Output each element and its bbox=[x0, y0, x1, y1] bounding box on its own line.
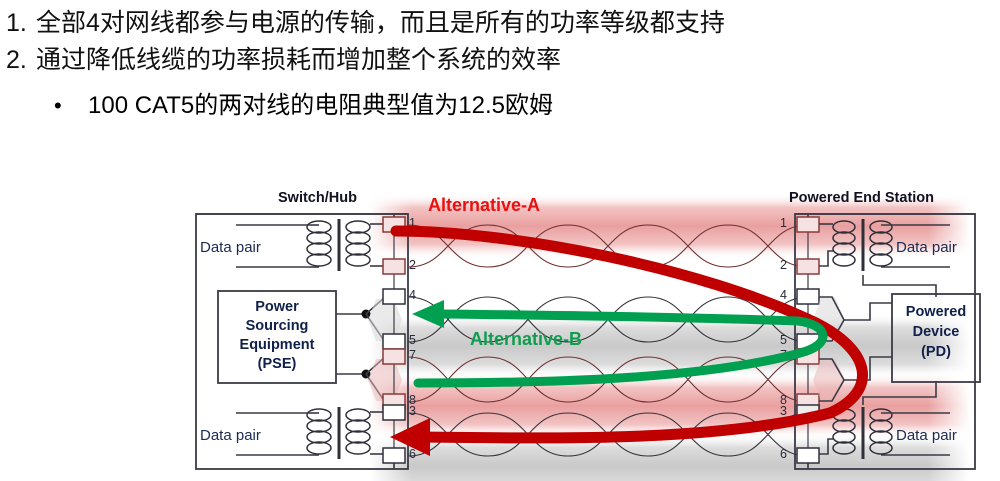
bullet-1-text: 全部4对网线都参与电源的传输，而且是所有的功率等级都支持 bbox=[36, 6, 725, 41]
right-pin-block-1 bbox=[797, 217, 819, 232]
left-pin-label-7: 7 bbox=[409, 348, 416, 362]
powered-end-station-header: Powered End Station bbox=[789, 190, 934, 206]
pd-label-line-1: Powered bbox=[906, 304, 966, 320]
sub-bullet-marker: • bbox=[54, 88, 62, 123]
bullet-2-number: 2. bbox=[6, 43, 27, 78]
left-pin-block-2 bbox=[383, 259, 405, 274]
left-pin-label-3: 3 bbox=[409, 404, 416, 418]
left-pin-label-4: 4 bbox=[409, 288, 416, 302]
bullet-1-number: 1. bbox=[6, 6, 27, 41]
right-pin-label-4: 4 bbox=[780, 288, 787, 302]
switch-hub-header: Switch/Hub bbox=[278, 190, 357, 206]
poe-wiring-diagram: Switch/Hub Powered End Station Data pair bbox=[180, 175, 1000, 481]
pse-label-line-4: (PSE) bbox=[258, 356, 297, 372]
bullet-item-1: 1. 全部4对网线都参与电源的传输，而且是所有的功率等级都支持 bbox=[0, 6, 1000, 41]
alternative-a-label: Alternative-A bbox=[428, 195, 540, 215]
right-pin-block-4 bbox=[797, 289, 819, 304]
bullet-item-2: 2. 通过降低线缆的功率损耗而增加整个系统的效率 bbox=[0, 43, 1000, 78]
transformer-coil-primary-bottom bbox=[307, 409, 331, 454]
left-pin-label-5: 5 bbox=[409, 333, 416, 347]
left-pin-block-3 bbox=[383, 405, 405, 420]
pd-label-line-2: Device bbox=[913, 324, 960, 340]
pse-label-line-3: Equipment bbox=[240, 337, 315, 353]
switch-data-pair-bottom: Data pair bbox=[200, 407, 385, 459]
left-pin-block-5 bbox=[383, 334, 405, 349]
left-pin-block-4 bbox=[383, 289, 405, 304]
pse-block: Power Sourcing Equipment (PSE) bbox=[218, 291, 336, 383]
pd-label-line-3: (PD) bbox=[921, 344, 951, 360]
transformer-coil-primary-top bbox=[307, 221, 331, 266]
pse-label-line-2: Sourcing bbox=[246, 318, 309, 334]
pd-data-pair-top-label: Data pair bbox=[896, 239, 957, 256]
right-pin-block-6 bbox=[797, 448, 819, 463]
pse-label-line-1: Power bbox=[255, 299, 299, 315]
switch-data-pair-bottom-label: Data pair bbox=[200, 427, 261, 444]
bullet-2-text: 通过降低线缆的功率损耗而增加整个系统的效率 bbox=[36, 43, 561, 78]
left-pin-label-6: 6 bbox=[409, 447, 416, 461]
right-pin-label-1: 1 bbox=[780, 216, 787, 230]
pd-data-pair-bottom-label: Data pair bbox=[896, 427, 957, 444]
right-pin-label-5: 5 bbox=[780, 333, 787, 347]
right-pin-label-6: 6 bbox=[780, 447, 787, 461]
left-pin-block-6 bbox=[383, 448, 405, 463]
sub-bullet-item: • 100 CAT5的两对线的电阻典型值为12.5欧姆 bbox=[0, 88, 1000, 123]
band-pair-4-5 bbox=[370, 313, 970, 379]
switch-data-pair-top-label: Data pair bbox=[200, 239, 261, 256]
left-pin-label-2: 2 bbox=[409, 258, 416, 272]
sub-bullet-text: 100 CAT5的两对线的电阻典型值为12.5欧姆 bbox=[88, 88, 553, 123]
right-pin-label-3: 3 bbox=[780, 404, 787, 418]
transformer-coil-secondary-bottom bbox=[346, 409, 370, 454]
transformer-coil-secondary-top bbox=[346, 221, 370, 266]
alternative-b-label: Alternative-B bbox=[470, 329, 582, 349]
switch-data-pair-top: Data pair bbox=[200, 219, 385, 271]
left-pin-block-7 bbox=[383, 349, 405, 364]
right-pin-block-2 bbox=[797, 259, 819, 274]
right-pin-label-2: 2 bbox=[780, 258, 787, 272]
